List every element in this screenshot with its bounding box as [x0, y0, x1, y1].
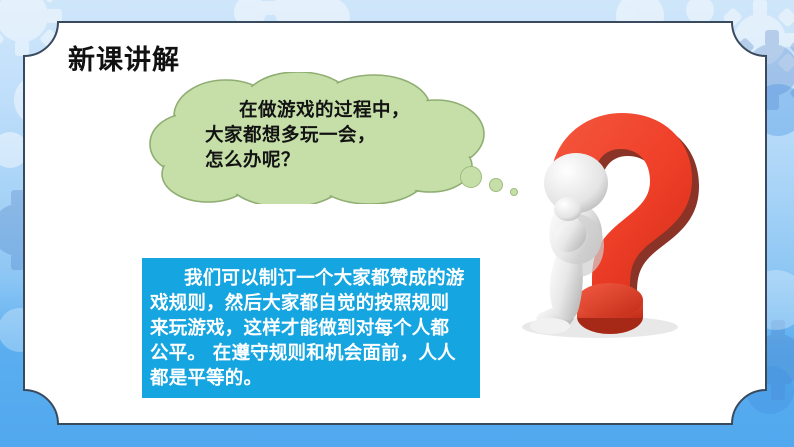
cloud-line-1: 在做游戏的过程中，	[205, 98, 457, 123]
answer-line-5: 都是平等的。	[150, 366, 474, 391]
slide-canvas: 新课讲解	[0, 0, 794, 447]
question-mark-thinker	[488, 95, 723, 343]
cloud-line-2: 大家都想多玩一会，	[205, 123, 457, 148]
answer-callout: 我们可以制订一个大家都赞成的游 戏规则，然后大家都自觉的按照规则 来玩游戏，这样…	[142, 258, 480, 398]
cloud-line-3: 怎么办呢？	[205, 148, 457, 173]
thought-dot-large	[460, 166, 482, 188]
answer-line-1: 我们可以制订一个大家都赞成的游	[150, 266, 474, 291]
answer-line-4: 公平。 在遵守规则和机会面前，人人	[150, 341, 474, 366]
thought-cloud-text: 在做游戏的过程中， 大家都想多玩一会， 怎么办呢？	[205, 98, 457, 173]
answer-line-2: 戏规则，然后大家都自觉的按照规则	[150, 291, 474, 316]
answer-line-3: 来玩游戏，这样才能做到对每个人都	[150, 316, 474, 341]
